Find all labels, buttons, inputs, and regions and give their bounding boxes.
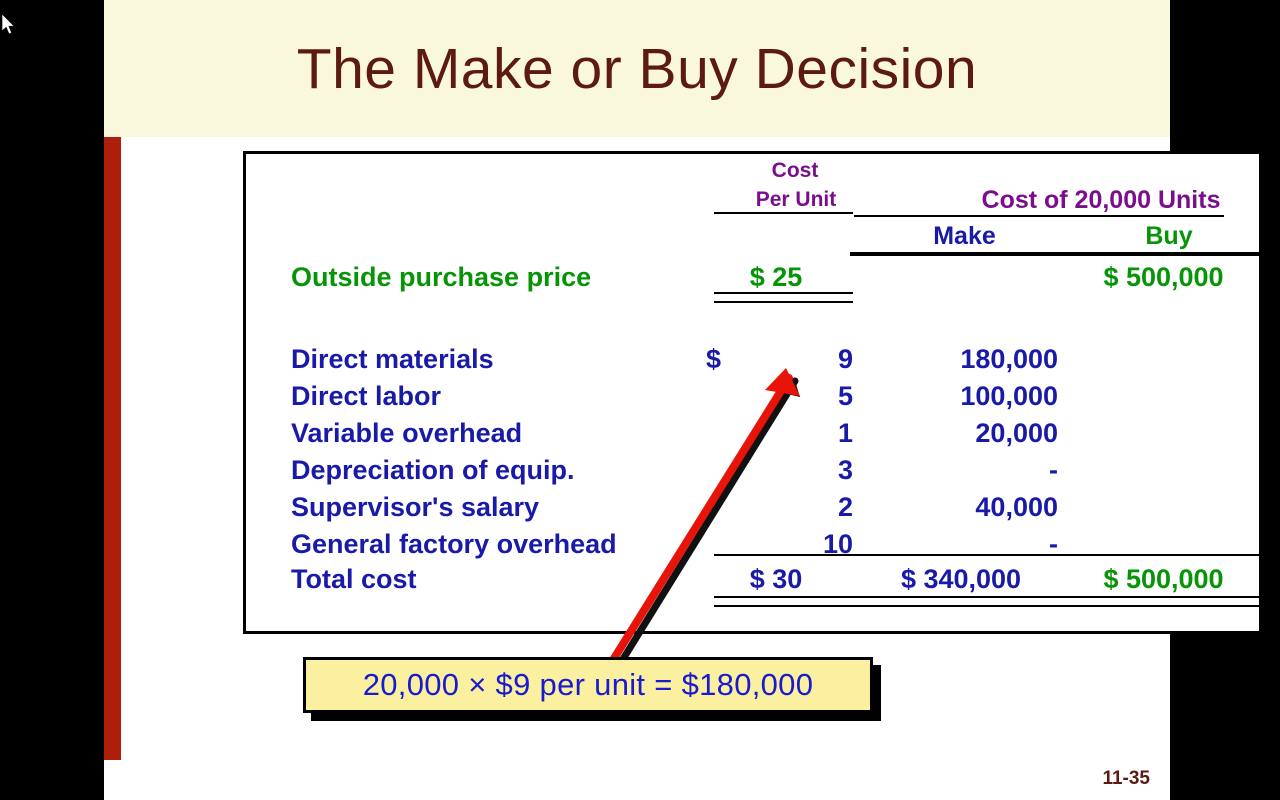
rule-per-unit-header	[714, 212, 853, 214]
value-per-unit: 9	[714, 346, 853, 373]
rule-total-per-unit-top	[714, 554, 853, 556]
rule-double-total-per-unit	[714, 596, 853, 607]
row-label: Direct materials	[291, 346, 494, 373]
value-make: 180,000	[850, 346, 1058, 373]
title-banner: The Make or Buy Decision	[104, 0, 1170, 137]
page-number: 11-35	[1000, 768, 1150, 790]
value-outside-purchase-price-per-unit: $ 25	[701, 264, 851, 291]
value-make: 100,000	[850, 383, 1058, 410]
rule-buy-header	[1053, 252, 1275, 256]
rule-make-header	[850, 252, 1072, 256]
rule-total-make-top	[850, 554, 1072, 556]
row-label: Depreciation of equip.	[291, 457, 575, 484]
value-total-per-unit: $ 30	[701, 566, 851, 593]
value-outside-purchase-price-buy: $ 500,000	[1051, 264, 1276, 291]
callout-box: 20,000 × $9 per unit = $180,000	[303, 657, 873, 713]
value-total-make: $ 340,000	[850, 566, 1072, 593]
slide-stage: The Make or Buy Decision Cost Per Unit C…	[0, 0, 1280, 800]
header-cost-of-units: Cost of 20,000 Units	[866, 188, 1280, 213]
row-label: Direct labor	[291, 383, 441, 410]
value-make: 20,000	[850, 420, 1058, 447]
row-label-total-cost: Total cost	[291, 566, 417, 593]
rule-double-total-buy	[1053, 596, 1275, 607]
page-title: The Make or Buy Decision	[104, 0, 1170, 137]
value-per-unit: 5	[714, 383, 853, 410]
header-cost-line1: Cost	[740, 160, 850, 181]
value-total-buy: $ 500,000	[1051, 566, 1276, 593]
value-per-unit: 2	[714, 494, 853, 521]
value-per-unit: 1	[714, 420, 853, 447]
header-cost-per-unit: Per Unit	[716, 189, 876, 210]
value-make: -	[850, 457, 1058, 484]
row-label: Supervisor's salary	[291, 494, 539, 521]
row-label-outside-purchase-price: Outside purchase price	[291, 264, 591, 291]
rule-double-per-unit-purchase	[714, 292, 853, 303]
row-label: Variable overhead	[291, 420, 522, 447]
value-make: 40,000	[850, 494, 1058, 521]
row-label: General factory overhead	[291, 531, 617, 558]
header-make: Make	[852, 224, 1077, 249]
rule-double-total-make	[850, 596, 1072, 607]
mouse-pointer-icon	[2, 14, 18, 38]
rule-group-header	[854, 215, 1224, 217]
header-buy: Buy	[1054, 224, 1280, 249]
rule-total-buy-top	[1053, 554, 1275, 556]
cost-comparison-table: Cost Per Unit Cost of 20,000 Units Make …	[243, 151, 1262, 634]
value-per-unit: 3	[714, 457, 853, 484]
left-accent-bar	[104, 137, 121, 760]
